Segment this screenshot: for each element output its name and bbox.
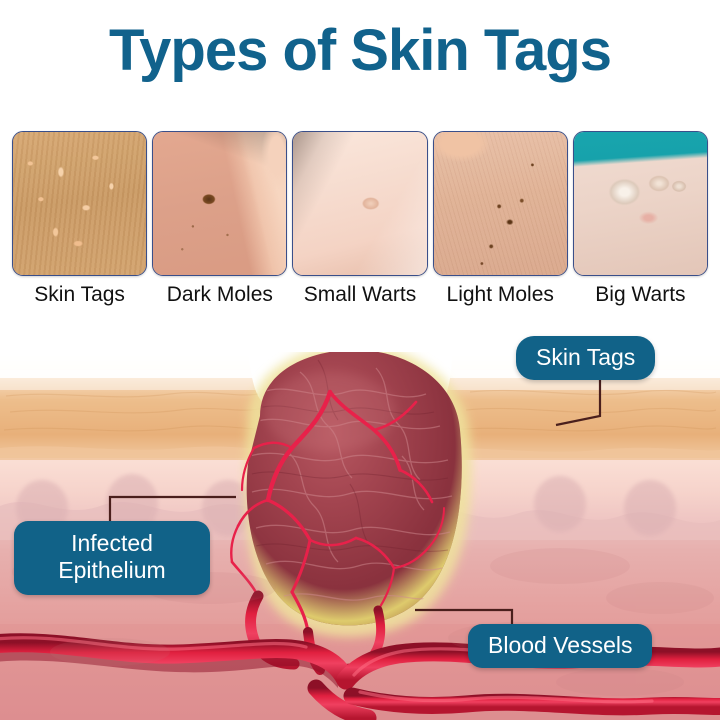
thumbnail-cell-dark-moles[interactable]: Dark Moles [152, 131, 287, 313]
dark-moles-photo [153, 132, 286, 275]
callout-blood-vessels[interactable]: Blood Vessels [468, 624, 652, 668]
thumbnail-frame[interactable] [152, 131, 287, 276]
thumbnail-caption: Skin Tags [34, 283, 125, 307]
thumbnail-frame[interactable] [292, 131, 427, 276]
skin-tags-photo [13, 132, 146, 275]
thumbnail-cell-small-warts[interactable]: Small Warts [292, 131, 427, 313]
thumbnail-caption: Big Warts [595, 283, 685, 307]
thumbnail-frame[interactable] [12, 131, 147, 276]
callout-infected-epithelium[interactable]: Infected Epithelium [14, 521, 210, 595]
thumbnail-frame[interactable] [433, 131, 568, 276]
page-title: Types of Skin Tags [0, 22, 720, 80]
small-warts-photo [293, 132, 426, 275]
thumbnail-frame[interactable] [573, 131, 708, 276]
thumbnail-cell-skin-tags[interactable]: Skin Tags [12, 131, 147, 313]
thumbnail-caption: Dark Moles [167, 283, 273, 307]
light-moles-photo [434, 132, 567, 275]
big-warts-photo [574, 132, 707, 275]
thumbnail-cell-big-warts[interactable]: Big Warts [573, 131, 708, 313]
thumbnail-strip: Skin Tags Dark Moles Small Warts Light M… [12, 131, 708, 313]
callout-skin-tags[interactable]: Skin Tags [516, 336, 655, 380]
thumbnail-caption: Small Warts [304, 283, 416, 307]
thumbnail-cell-light-moles[interactable]: Light Moles [433, 131, 568, 313]
thumbnail-caption: Light Moles [447, 283, 554, 307]
